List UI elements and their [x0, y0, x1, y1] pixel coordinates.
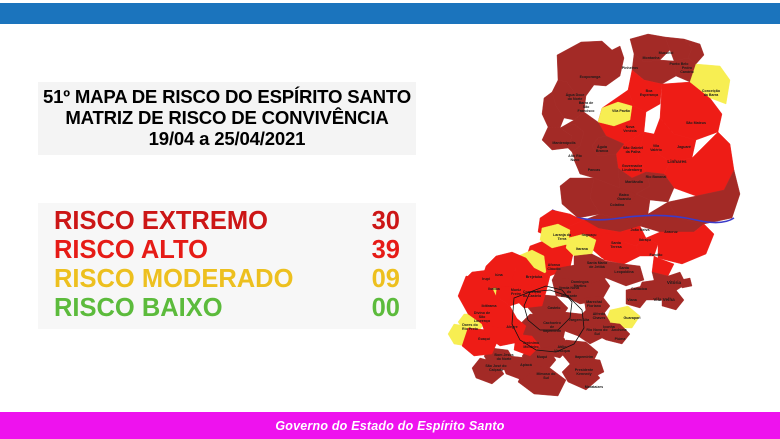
legend-count-baixo: 00 — [372, 294, 400, 323]
legend-count-extremo: 30 — [372, 207, 400, 236]
legend-row-moderado: RISCO MODERADO 09 — [38, 265, 416, 294]
risk-map-espirito-santo: PinheirosMontanhaMucuriciPonto BeloBoaEs… — [414, 28, 774, 408]
legend-row-alto: RISCO ALTO 39 — [38, 236, 416, 265]
page-title: 51º MAPA DE RISCO DO ESPÍRITO SANTO MATR… — [38, 82, 416, 155]
legend-count-moderado: 09 — [372, 265, 400, 294]
map-region-vila-velha — [662, 290, 684, 310]
legend-row-baixo: RISCO BAIXO 00 — [38, 294, 416, 323]
legend-label-alto: RISCO ALTO — [54, 236, 208, 265]
legend-label-extremo: RISCO EXTREMO — [54, 207, 268, 236]
title-line-1: 51º MAPA DE RISCO DO ESPÍRITO SANTO — [38, 86, 416, 107]
legend-label-moderado: RISCO MODERADO — [54, 265, 293, 294]
legend-row-extremo: RISCO EXTREMO 30 — [38, 207, 416, 236]
title-date-range: 19/04 a 25/04/2021 — [38, 128, 416, 149]
top-accent-bar — [0, 3, 780, 24]
legend-label-baixo: RISCO BAIXO — [54, 294, 223, 323]
map-region-vitoria — [680, 278, 692, 288]
risk-legend: RISCO EXTREMO 30 RISCO ALTO 39 RISCO MOD… — [38, 203, 416, 329]
footer-text: Governo do Estado do Espírito Santo — [275, 419, 504, 433]
title-line-2: MATRIZ DE RISCO DE CONVIVÊNCIA — [38, 107, 416, 128]
legend-count-alto: 39 — [372, 236, 400, 265]
footer-bar: Governo do Estado do Espírito Santo — [0, 412, 780, 439]
map-svg: PinheirosMontanhaMucuriciPonto BeloBoaEs… — [414, 28, 774, 408]
